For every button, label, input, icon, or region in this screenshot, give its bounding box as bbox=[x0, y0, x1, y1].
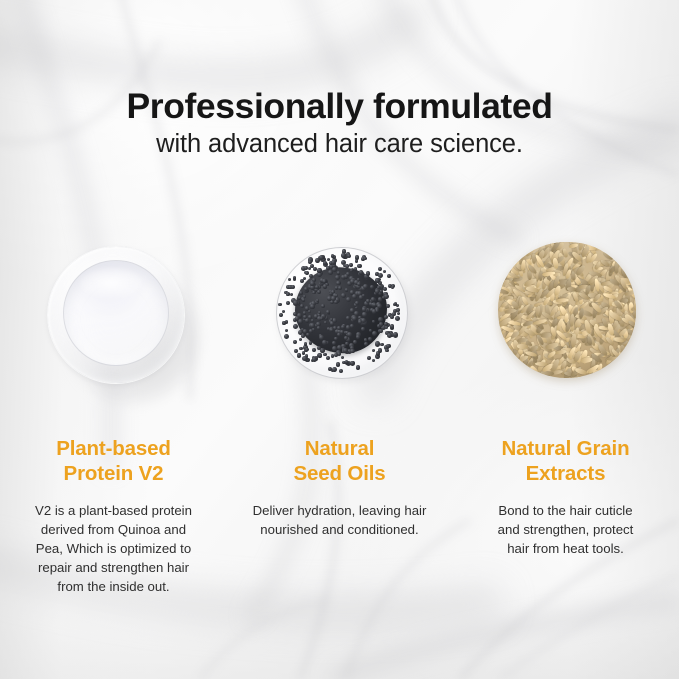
feature-description: Deliver hydration, leaving hair nourishe… bbox=[253, 501, 427, 539]
seed bbox=[317, 326, 320, 329]
seed bbox=[341, 293, 346, 298]
seed bbox=[391, 286, 394, 289]
feature-title: Natural Seed Oils bbox=[293, 436, 385, 486]
grain-kernel bbox=[607, 356, 621, 361]
seed bbox=[393, 332, 398, 337]
seed bbox=[302, 356, 307, 361]
seed bbox=[366, 299, 369, 302]
seed bbox=[293, 340, 297, 344]
seed bbox=[350, 361, 354, 365]
seed bbox=[304, 266, 308, 270]
seed bbox=[302, 351, 305, 354]
seed bbox=[375, 278, 379, 282]
seed bbox=[310, 304, 314, 308]
seed bbox=[385, 326, 389, 330]
seed bbox=[326, 356, 330, 360]
seed bbox=[317, 268, 321, 272]
seed bbox=[322, 340, 327, 345]
seed bbox=[385, 349, 388, 352]
dish-rim-light bbox=[47, 246, 185, 384]
feature-title: Plant-based Protein V2 bbox=[56, 436, 171, 486]
seed bbox=[384, 315, 388, 319]
seed bbox=[386, 344, 390, 348]
seed bbox=[301, 334, 305, 338]
headline-block: Professionally formulated with advanced … bbox=[0, 86, 679, 160]
grain-pile bbox=[498, 242, 636, 378]
grain-kernel bbox=[634, 298, 635, 311]
seed bbox=[363, 284, 368, 289]
seed bbox=[375, 289, 379, 293]
feature-column-natural-seed-oils: Natural Seed Oils Deliver hydration, lea… bbox=[227, 232, 453, 539]
feature-column-plant-based-protein: Plant-based Protein V2 V2 is a plant-bas… bbox=[1, 232, 227, 596]
seed bbox=[291, 285, 295, 289]
seed bbox=[347, 254, 351, 258]
seed bbox=[302, 298, 306, 302]
seed bbox=[278, 303, 282, 307]
seed bbox=[326, 310, 330, 314]
seed bbox=[367, 356, 371, 360]
seed bbox=[371, 297, 375, 301]
grain-kernel bbox=[540, 332, 552, 338]
feature-description: Bond to the hair cuticle and strengthen,… bbox=[498, 501, 634, 558]
seed bbox=[366, 271, 370, 275]
seed bbox=[297, 353, 302, 358]
seed bbox=[332, 267, 337, 272]
seed bbox=[339, 369, 343, 373]
seed bbox=[334, 353, 338, 357]
seed bbox=[282, 321, 285, 324]
seed bbox=[349, 263, 353, 267]
seed bbox=[285, 329, 288, 332]
grain-kernel bbox=[567, 286, 576, 291]
seed bbox=[326, 266, 330, 270]
seed bbox=[397, 312, 400, 315]
seed bbox=[299, 338, 302, 341]
seed bbox=[308, 267, 311, 270]
seed bbox=[279, 313, 284, 318]
seed bbox=[305, 348, 308, 351]
black-seeds-petri-dish-image bbox=[256, 232, 424, 400]
seed bbox=[346, 316, 350, 320]
seed bbox=[352, 316, 356, 320]
seed bbox=[316, 322, 320, 326]
seed bbox=[378, 317, 383, 322]
seed bbox=[284, 334, 289, 339]
seed bbox=[318, 353, 322, 357]
seed bbox=[335, 286, 338, 289]
seed bbox=[293, 324, 298, 329]
seed bbox=[363, 257, 366, 260]
seed bbox=[290, 293, 293, 296]
seed bbox=[355, 255, 359, 259]
seed bbox=[337, 333, 340, 336]
seed bbox=[345, 288, 348, 291]
seed bbox=[343, 348, 348, 353]
seed bbox=[379, 322, 384, 327]
seed bbox=[390, 324, 394, 328]
seed bbox=[293, 300, 298, 305]
seed bbox=[331, 254, 334, 257]
seed bbox=[372, 349, 376, 353]
seed bbox=[341, 253, 345, 257]
seed bbox=[378, 348, 382, 352]
seed bbox=[320, 348, 324, 352]
feature-column-natural-grain-extracts: Natural Grain Extracts Bond to the hair … bbox=[453, 232, 679, 558]
infographic-canvas: Professionally formulated with advanced … bbox=[0, 0, 679, 679]
seed bbox=[332, 367, 337, 372]
seed bbox=[386, 304, 390, 308]
seed bbox=[356, 335, 360, 339]
page-subtitle: with advanced hair care science. bbox=[0, 128, 679, 160]
seed bbox=[298, 319, 303, 324]
seed bbox=[312, 348, 316, 352]
seed bbox=[387, 333, 392, 338]
seed bbox=[384, 294, 389, 299]
seed bbox=[344, 274, 349, 279]
seed bbox=[288, 278, 291, 281]
grain-kernel bbox=[602, 250, 614, 261]
seed bbox=[286, 301, 290, 305]
seed bbox=[345, 342, 348, 345]
seed bbox=[364, 342, 368, 346]
seed bbox=[347, 332, 352, 337]
seed bbox=[379, 329, 383, 333]
seed bbox=[330, 318, 334, 322]
seed bbox=[336, 281, 340, 285]
seed bbox=[387, 274, 391, 278]
seed bbox=[356, 365, 361, 370]
grain-kernel bbox=[614, 263, 618, 274]
seed bbox=[323, 261, 327, 265]
feature-title: Natural Grain Extracts bbox=[502, 436, 630, 486]
seed bbox=[362, 294, 365, 297]
seed bbox=[395, 316, 400, 321]
seed bbox=[359, 270, 364, 275]
seed bbox=[390, 315, 394, 319]
seed bbox=[312, 357, 317, 362]
page-title: Professionally formulated bbox=[0, 86, 679, 126]
seed bbox=[305, 271, 309, 275]
seed bbox=[335, 275, 340, 280]
seed bbox=[378, 267, 382, 271]
seed bbox=[332, 341, 336, 345]
seed bbox=[299, 347, 302, 350]
seed bbox=[309, 341, 313, 345]
seed bbox=[293, 276, 296, 279]
seed bbox=[372, 359, 375, 362]
seed bbox=[380, 343, 383, 346]
grain-pile-image bbox=[482, 232, 650, 400]
seed bbox=[334, 300, 337, 303]
seed bbox=[383, 287, 387, 291]
seed bbox=[336, 362, 340, 366]
seed bbox=[350, 349, 355, 354]
seed bbox=[355, 259, 358, 262]
seed bbox=[341, 325, 345, 329]
seed bbox=[331, 354, 334, 357]
seed bbox=[312, 291, 316, 295]
seed bbox=[383, 270, 386, 273]
feature-description: V2 is a plant-based protein derived from… bbox=[35, 501, 192, 596]
feature-columns: Plant-based Protein V2 V2 is a plant-bas… bbox=[0, 232, 679, 596]
seed bbox=[357, 264, 362, 269]
seed bbox=[337, 271, 340, 274]
seed-scatter bbox=[276, 247, 406, 377]
seed bbox=[315, 285, 319, 289]
seed bbox=[378, 273, 383, 278]
seed bbox=[341, 356, 344, 359]
seed bbox=[286, 293, 289, 296]
clear-gel-petri-dish-image bbox=[30, 232, 198, 400]
seed bbox=[323, 284, 328, 289]
